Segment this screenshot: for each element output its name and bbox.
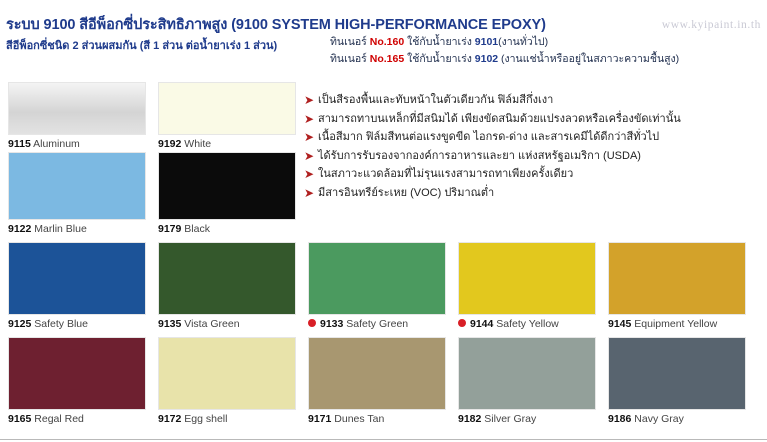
swatch-code: 9172 <box>158 413 181 425</box>
red-marker-dot-icon <box>458 319 466 327</box>
swatch-row-2: 9122 Marlin Blue 9179 Black <box>0 152 767 242</box>
swatch-code: 9115 <box>8 138 31 150</box>
swatch-code: 9165 <box>8 413 31 425</box>
swatch-color-chip[interactable] <box>458 337 596 410</box>
swatch-code: 9192 <box>158 138 181 150</box>
swatch-cell-9115[interactable]: 9115 Aluminum <box>8 82 146 151</box>
swatch-caption: 9115 Aluminum <box>8 138 146 151</box>
swatch-cell-9182[interactable]: 9182 Silver Gray <box>458 337 596 426</box>
swatch-row-4: 9165 Regal Red 9172 Egg shell 9171 Dunes… <box>0 337 767 434</box>
swatch-cell-9172[interactable]: 9172 Egg shell <box>158 337 296 426</box>
swatch-name: Dunes Tan <box>334 413 384 425</box>
thinner-note-lead: ทินเนอร์ <box>330 36 370 48</box>
swatch-cell-9122[interactable]: 9122 Marlin Blue <box>8 152 146 236</box>
thinner-notes: ทินเนอร์ No.160 ใช้กับน้ำยาเร่ง 9101(งาน… <box>330 34 679 68</box>
swatch-name: Marlin Blue <box>34 223 87 235</box>
thinner-note-mid: ใช้กับน้ำยาเร่ง <box>404 36 475 48</box>
color-chart-page: ระบบ 9100 สีอีพ็อกซี่ประสิทธิภาพสูง (910… <box>0 0 767 442</box>
page-title-thai: ระบบ 9100 สีอีพ็อกซี่ประสิทธิภาพสูง <box>6 17 231 33</box>
swatch-caption: 9165 Regal Red <box>8 413 146 426</box>
watermark-url: www.kyipaint.in.th <box>662 19 761 31</box>
swatch-cell-9145[interactable]: 9145 Equipment Yellow <box>608 242 746 331</box>
swatch-code: 9145 <box>608 318 631 330</box>
swatch-name: Vista Green <box>184 318 239 330</box>
swatch-color-chip[interactable] <box>158 337 296 410</box>
swatch-caption: 9171 Dunes Tan <box>308 413 446 426</box>
color-swatch-grid: 9115 Aluminum 9192 White 9122 Marlin Blu… <box>0 82 767 442</box>
thinner-note-product: 9101 <box>475 36 498 48</box>
swatch-color-chip[interactable] <box>158 242 296 315</box>
swatch-caption: 9133 Safety Green <box>308 318 446 331</box>
swatch-caption: 9192 White <box>158 138 296 151</box>
page-title: ระบบ 9100 สีอีพ็อกซี่ประสิทธิภาพสูง (910… <box>6 13 546 36</box>
thinner-note-row: ทินเนอร์ No.160 ใช้กับน้ำยาเร่ง 9101(งาน… <box>330 34 679 51</box>
swatch-name: Safety Blue <box>34 318 88 330</box>
swatch-code: 9171 <box>308 413 331 425</box>
swatch-color-chip[interactable] <box>8 337 146 410</box>
swatch-row-1: 9115 Aluminum 9192 White <box>0 82 767 152</box>
swatch-name: Aluminum <box>33 138 80 150</box>
swatch-color-chip[interactable] <box>158 152 296 220</box>
page-header: ระบบ 9100 สีอีพ็อกซี่ประสิทธิภาพสูง (910… <box>0 0 767 82</box>
swatch-cell-9179[interactable]: 9179 Black <box>158 152 296 236</box>
swatch-caption: 9122 Marlin Blue <box>8 223 146 236</box>
swatch-code: 9179 <box>158 223 181 235</box>
swatch-color-chip[interactable] <box>158 82 296 135</box>
bottom-divider <box>0 439 767 440</box>
swatch-cell-9135[interactable]: 9135 Vista Green <box>158 242 296 331</box>
swatch-row-3: 9125 Safety Blue 9135 Vista Green 9133 S… <box>0 242 767 337</box>
thinner-note-row: ทินเนอร์ No.165 ใช้กับน้ำยาเร่ง 9102 (งา… <box>330 51 679 68</box>
swatch-caption: 9172 Egg shell <box>158 413 296 426</box>
thinner-note-code: No.165 <box>370 53 404 65</box>
swatch-name: Safety Yellow <box>496 318 558 330</box>
swatch-color-chip[interactable] <box>308 242 446 315</box>
swatch-color-chip[interactable] <box>8 152 146 220</box>
thinner-note-lead: ทินเนอร์ <box>330 53 370 65</box>
swatch-color-chip[interactable] <box>308 337 446 410</box>
swatch-name: Egg shell <box>184 413 227 425</box>
swatch-code: 9135 <box>158 318 181 330</box>
swatch-code: 9122 <box>8 223 31 235</box>
swatch-color-chip[interactable] <box>458 242 596 315</box>
swatch-caption: 9182 Silver Gray <box>458 413 596 426</box>
swatch-name: Regal Red <box>34 413 84 425</box>
swatch-name: White <box>184 138 211 150</box>
swatch-cell-9192[interactable]: 9192 White <box>158 82 296 151</box>
thinner-note-product: 9102 <box>475 53 498 65</box>
swatch-caption: 9144 Safety Yellow <box>458 318 596 331</box>
swatch-caption: 9135 Vista Green <box>158 318 296 331</box>
swatch-cell-9171[interactable]: 9171 Dunes Tan <box>308 337 446 426</box>
page-subtitle: สีอีพ็อกซี่ชนิด 2 ส่วนผสมกัน (สี 1 ส่วน … <box>6 36 277 54</box>
thinner-note-code: No.160 <box>370 36 404 48</box>
swatch-color-chip[interactable] <box>8 82 146 135</box>
red-marker-dot-icon <box>308 319 316 327</box>
thinner-note-tail: (งานแช่น้ำหรืออยู่ในสภาวะความชื้นสูง) <box>498 53 679 65</box>
swatch-name: Silver Gray <box>484 413 536 425</box>
swatch-color-chip[interactable] <box>608 242 746 315</box>
swatch-caption: 9179 Black <box>158 223 296 236</box>
swatch-color-chip[interactable] <box>608 337 746 410</box>
swatch-name: Safety Green <box>346 318 408 330</box>
page-title-english: (9100 SYSTEM HIGH-PERFORMANCE EPOXY) <box>231 17 546 33</box>
swatch-name: Equipment Yellow <box>634 318 717 330</box>
swatch-name: Navy Gray <box>634 413 684 425</box>
swatch-caption: 9125 Safety Blue <box>8 318 146 331</box>
swatch-code: 9144 <box>470 318 493 330</box>
swatch-code: 9186 <box>608 413 631 425</box>
swatch-code: 9182 <box>458 413 481 425</box>
swatch-code: 9125 <box>8 318 31 330</box>
swatch-cell-9144[interactable]: 9144 Safety Yellow <box>458 242 596 331</box>
swatch-cell-9186[interactable]: 9186 Navy Gray <box>608 337 746 426</box>
swatch-cell-9125[interactable]: 9125 Safety Blue <box>8 242 146 331</box>
thinner-note-mid: ใช้กับน้ำยาเร่ง <box>404 53 475 65</box>
swatch-caption: 9145 Equipment Yellow <box>608 318 746 331</box>
swatch-name: Black <box>184 223 210 235</box>
swatch-cell-9133[interactable]: 9133 Safety Green <box>308 242 446 331</box>
swatch-caption: 9186 Navy Gray <box>608 413 746 426</box>
thinner-note-tail: (งานทั่วไป) <box>498 36 548 48</box>
swatch-cell-9165[interactable]: 9165 Regal Red <box>8 337 146 426</box>
swatch-code: 9133 <box>320 318 343 330</box>
swatch-color-chip[interactable] <box>8 242 146 315</box>
